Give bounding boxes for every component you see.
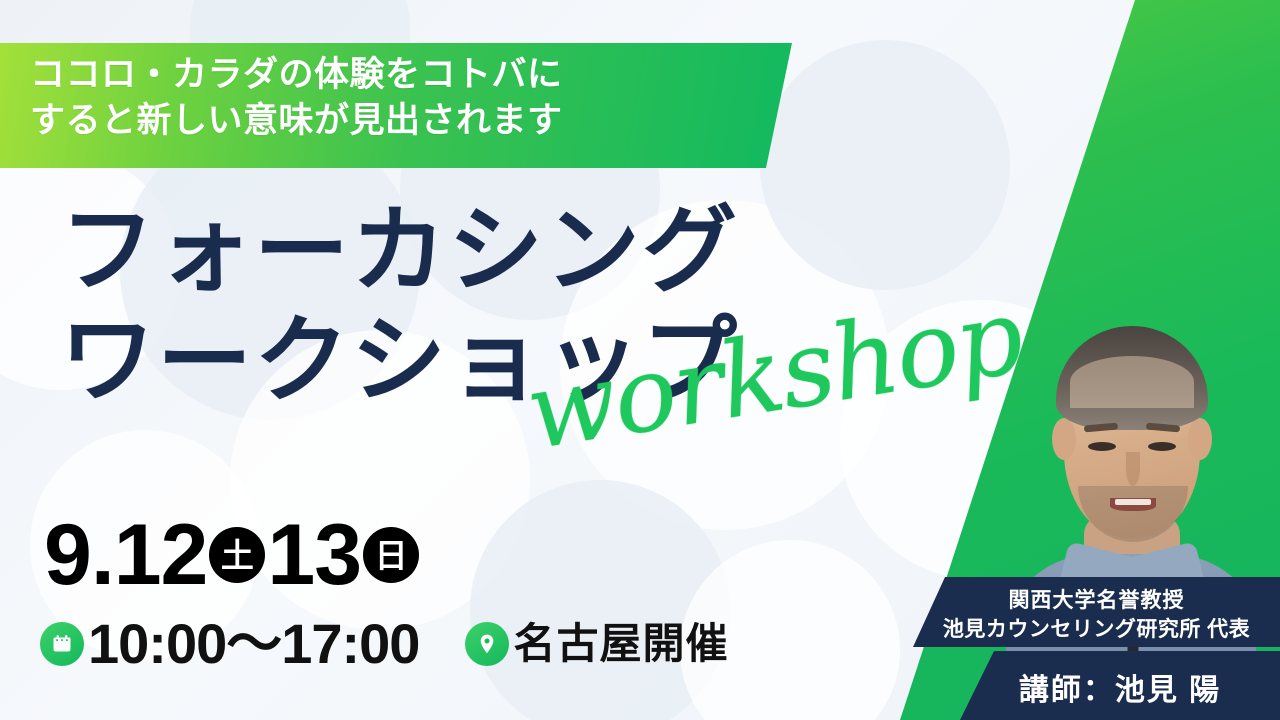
event-location: 名古屋開催 (513, 623, 728, 665)
calendar-icon (40, 622, 84, 666)
event-info: 10:00〜17:00 名古屋開催 (40, 616, 728, 672)
event-time: 10:00〜17:00 (88, 616, 419, 672)
event-date: 9.12 土 13 日 (44, 512, 421, 598)
date-month-day: 9.12 (44, 512, 207, 598)
bokeh-circle (760, 40, 1010, 290)
location-pin-icon (465, 622, 509, 666)
speaker-credential-2: 池見カウンセリング研究所 代表 (913, 613, 1280, 643)
date-second-day: 13 (267, 512, 361, 598)
speaker-name-panel: 講師：池見 陽 (960, 651, 1280, 720)
promotional-banner: ココロ・カラダの体験をコトバに すると新しい意味が見出されます フォーカシング … (0, 0, 1280, 720)
speaker-credentials-panel: 関西大学名誉教授 池見カウンセリング研究所 代表 (913, 577, 1280, 647)
headline-text: ココロ・カラダの体験をコトバに すると新しい意味が見出されます (30, 52, 770, 144)
speaker-credential-1: 関西大学名誉教授 (913, 584, 1280, 614)
day-badge-saturday: 土 (209, 527, 265, 583)
day-badge-sunday: 日 (363, 527, 419, 583)
speaker-name: 講師：池見 陽 (960, 665, 1280, 709)
